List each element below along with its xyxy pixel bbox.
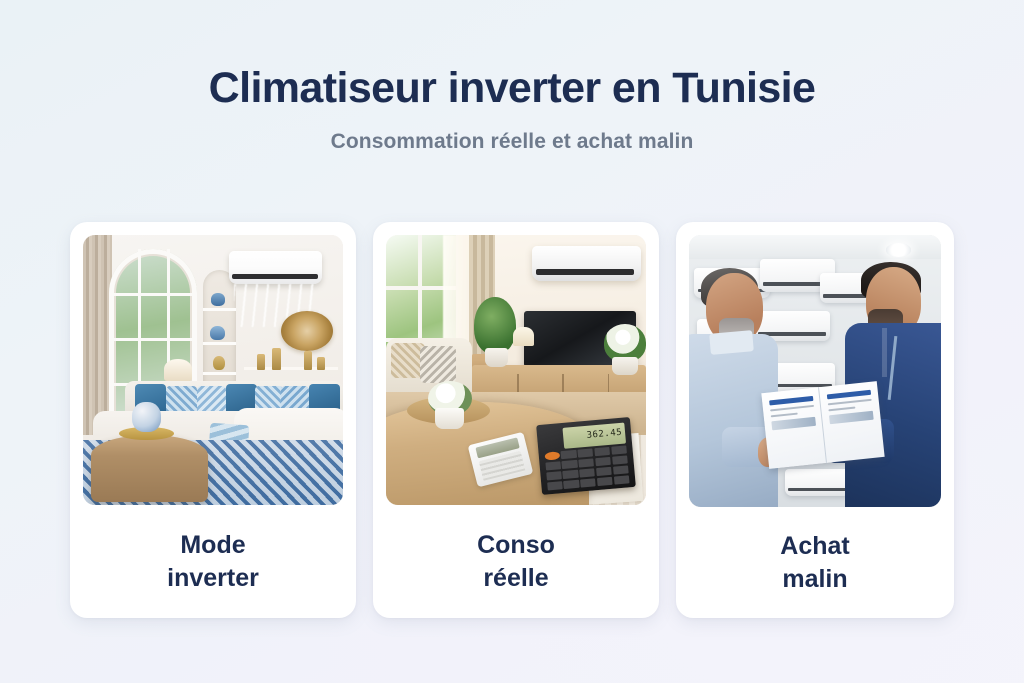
coffee-table-icon — [91, 435, 208, 503]
ceiling-light-icon — [886, 243, 911, 257]
scene-living-room-blue — [83, 235, 343, 505]
curtain-icon — [83, 235, 112, 435]
decorative-plate-icon — [281, 311, 333, 352]
plant-pot — [485, 348, 508, 367]
vase-icon — [435, 408, 464, 430]
ginger-jar-icon — [132, 402, 161, 432]
card-caption-mode-inverter: Mode inverter — [157, 505, 269, 618]
calculator-display: 362.45 — [563, 423, 626, 449]
collar — [710, 330, 755, 355]
card-caption-conso-reelle: Conso réelle — [467, 505, 565, 618]
potted-plant-icon — [474, 297, 516, 354]
placket — [882, 328, 887, 377]
page-header: Climatiseur inverter en Tunisie Consomma… — [0, 0, 1024, 154]
card-conso-reelle[interactable]: 362.45 Conso réelle — [373, 222, 659, 618]
scene-living-room-calculator: 362.45 — [386, 235, 646, 505]
flower-pot — [612, 357, 638, 376]
scene-showroom-advice — [689, 235, 941, 507]
page-title: Climatiseur inverter en Tunisie — [0, 64, 1024, 112]
card-image-mode-inverter — [83, 235, 343, 505]
card-row: Mode inverter — [0, 222, 1024, 618]
calculator-keys — [545, 446, 630, 491]
card-mode-inverter[interactable]: Mode inverter — [70, 222, 356, 618]
calculator-icon: 362.45 — [537, 417, 636, 495]
table-lamp-icon — [164, 359, 193, 381]
card-image-conso-reelle: 362.45 — [386, 235, 646, 505]
cushion — [420, 346, 456, 384]
card-caption-achat-malin: Achat malin — [770, 507, 859, 618]
brochure-icon — [761, 381, 884, 469]
customer-figure — [689, 273, 790, 507]
card-achat-malin[interactable]: Achat malin — [676, 222, 954, 618]
wall-niche — [203, 270, 237, 386]
air-conditioner-icon — [229, 251, 323, 283]
floor-lamp-icon — [513, 327, 534, 346]
card-image-achat-malin — [689, 235, 941, 507]
page-subtitle: Consommation réelle et achat malin — [0, 130, 1024, 154]
air-conditioner-icon — [532, 246, 641, 281]
page-root: Climatiseur inverter en Tunisie Consomma… — [0, 0, 1024, 683]
